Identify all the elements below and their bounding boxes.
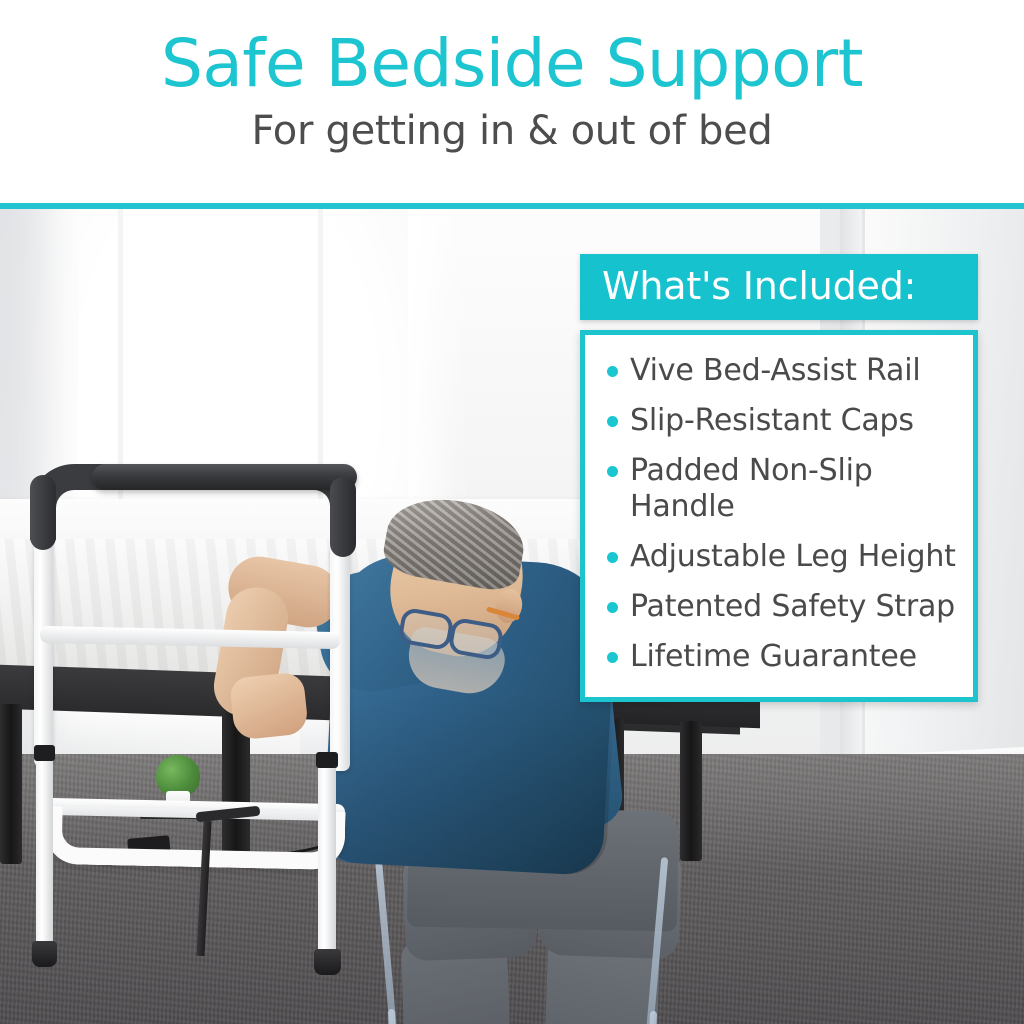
header-banner: Safe Bedside Support For getting in & ou… <box>0 0 1024 206</box>
callout-title: What's Included: <box>602 264 978 308</box>
callout-header: What's Included: <box>580 254 978 320</box>
list-item-label: Padded Non-Slip Handle <box>630 453 963 525</box>
product-marketing-image: Safe Bedside Support For getting in & ou… <box>0 0 1024 1024</box>
slip-resistant-cap <box>314 949 341 975</box>
included-items-list: Vive Bed-Assist Rail Slip-Resistant Caps… <box>603 353 963 675</box>
bullet-dot-icon <box>607 602 618 613</box>
slip-resistant-cap <box>32 941 57 967</box>
adjustable-leg-left <box>36 754 53 949</box>
leg-adjust-collar <box>316 752 338 768</box>
padded-handle-right <box>330 477 356 557</box>
whats-included-callout: What's Included: Vive Bed-Assist Rail Sl… <box>580 254 978 702</box>
page-title: Safe Bedside Support <box>0 27 1024 101</box>
list-item: Slip-Resistant Caps <box>603 403 963 439</box>
list-item-label: Adjustable Leg Height <box>630 539 956 575</box>
pant-stripe <box>375 859 398 1024</box>
rail-upright-left <box>34 537 53 767</box>
adjustable-leg-right <box>318 761 336 961</box>
callout-body: Vive Bed-Assist Rail Slip-Resistant Caps… <box>580 330 978 702</box>
bullet-dot-icon <box>607 552 618 563</box>
padded-handle-left <box>30 475 56 550</box>
padded-non-slip-handle <box>92 464 357 490</box>
list-item-label: Slip-Resistant Caps <box>630 403 914 439</box>
list-item: Patented Safety Strap <box>603 589 963 625</box>
bullet-dot-icon <box>607 652 618 663</box>
torso-shading <box>325 682 614 876</box>
list-item-label: Patented Safety Strap <box>630 589 955 625</box>
list-item: Padded Non-Slip Handle <box>603 453 963 525</box>
list-item: Adjustable Leg Height <box>603 539 963 575</box>
rail-upright-right <box>330 545 350 771</box>
pant-stripe <box>388 1009 399 1024</box>
bullet-dot-icon <box>607 416 618 427</box>
page-subtitle: For getting in & out of bed <box>0 107 1024 155</box>
bullet-dot-icon <box>607 366 618 377</box>
list-item: Vive Bed-Assist Rail <box>603 353 963 389</box>
list-item-label: Vive Bed-Assist Rail <box>630 353 920 389</box>
leg-adjust-collar <box>34 745 55 761</box>
list-item: Lifetime Guarantee <box>603 639 963 675</box>
hand-gripping-handle <box>229 671 309 740</box>
bullet-dot-icon <box>607 466 618 477</box>
list-item-label: Lifetime Guarantee <box>630 639 917 675</box>
